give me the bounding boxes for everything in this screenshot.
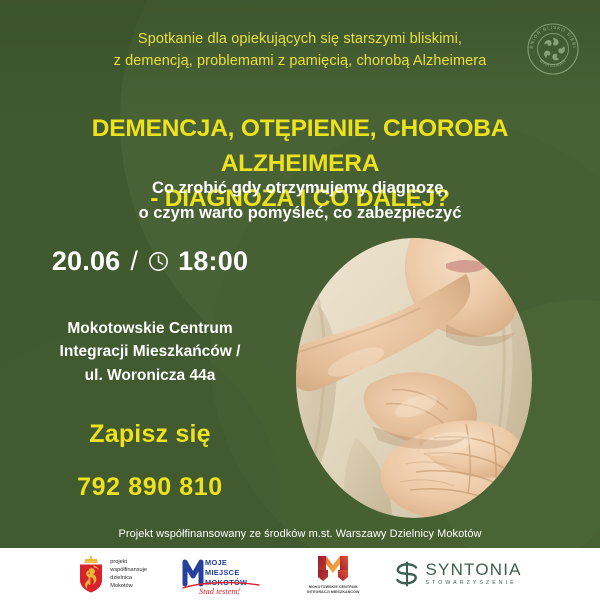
mcim-logo: MOKOTOWSKIE CENTRUM INTEGRACJI MIESZKAŃC…: [307, 554, 360, 595]
page-subtitle: Co zrobić gdy otrzymujemy diagnozę, o cz…: [0, 176, 600, 226]
warsaw-caption-line-3: dzielnica: [110, 574, 147, 582]
event-datetime: 20.06 / 18:00: [0, 248, 300, 275]
poster-root: SENIOR BLISKO SIEBIE WARSZAWA Spotkanie …: [0, 0, 600, 600]
syntonia-subtitle: STOWARZYSZENIE: [426, 581, 522, 586]
mcim-caption-line-2: INTEGRACJI MIESZKAŃCÓW: [307, 590, 360, 595]
venue-line-3: ul. Woronicza 44a: [0, 364, 300, 387]
warsaw-district-logo: projekt współfinansuje dzielnica Mokotów: [78, 555, 147, 593]
clock-icon: [148, 251, 169, 272]
warsaw-logo-caption: projekt współfinansuje dzielnica Mokotów: [110, 558, 147, 590]
header-subtitle: Spotkanie dla opiekujących się starszymi…: [0, 28, 600, 73]
warsaw-caption-line-4: Mokotów: [110, 582, 147, 590]
signup-label: Zapisz się: [0, 422, 300, 447]
syntonia-wordmark: SYNTONIA STOWARZYSZENIE: [426, 561, 522, 586]
event-venue: Mokotowskie Centrum Integracji Mieszkańc…: [0, 317, 300, 387]
mcim-icon: [314, 554, 352, 583]
svg-text:MOJE: MOJE: [205, 558, 227, 567]
page-title-line-1: DEMENCJA, OTĘPIENIE, CHOROBA ALZHEIMERA: [14, 112, 586, 182]
mcim-logo-caption: MOKOTOWSKIE CENTRUM INTEGRACJI MIESZKAŃC…: [307, 585, 360, 595]
moje-miejsce-mokotow-icon: MOJE MIEJSCE MOKOTÓW Stąd jestem!: [181, 554, 273, 594]
moje-miejsce-mokotow-logo: MOJE MIEJSCE MOKOTÓW Stąd jestem!: [181, 554, 273, 594]
syntonia-logo: SYNTONIA STOWARZYSZENIE: [394, 561, 522, 587]
venue-line-1: Mokotowskie Centrum: [0, 317, 300, 340]
venue-line-2: Integracji Mieszkańców /: [0, 340, 300, 363]
syntonia-title: SYNTONIA: [426, 561, 522, 578]
event-time: 18:00: [178, 248, 248, 275]
header-subtitle-line-1: Spotkanie dla opiekujących się starszymi…: [70, 28, 530, 50]
svg-text:Stąd jestem!: Stąd jestem!: [199, 587, 240, 594]
svg-text:MIEJSCE: MIEJSCE: [205, 568, 240, 577]
header-subtitle-line-2: z demencją, problemami z pamięcią, choro…: [70, 50, 530, 72]
elderly-hands-photo: [296, 238, 532, 518]
syntonia-s-mark-icon: [394, 561, 420, 587]
funding-credit-text: Projekt współfinansowany ze środków m.st…: [0, 528, 600, 540]
datetime-separator: /: [129, 248, 139, 275]
page-subtitle-line-2: o czym warto pomyśleć, co zabezpieczyć: [100, 201, 500, 226]
signup-phone-number[interactable]: 792 890 810: [0, 475, 300, 500]
event-info-column: 20.06 / 18:00 Mokotowskie Centrum Integr…: [0, 248, 300, 500]
mcim-caption-line-1: MOKOTOWSKIE CENTRUM: [307, 585, 360, 590]
warsaw-caption-line-1: projekt: [110, 558, 147, 566]
warsaw-coat-of-arms-icon: [78, 555, 104, 593]
warsaw-caption-line-2: współfinansuje: [110, 566, 147, 574]
event-date: 20.06: [52, 248, 121, 275]
footer-logo-bar: projekt współfinansuje dzielnica Mokotów…: [0, 548, 600, 600]
page-subtitle-line-1: Co zrobić gdy otrzymujemy diagnozę,: [100, 176, 500, 201]
